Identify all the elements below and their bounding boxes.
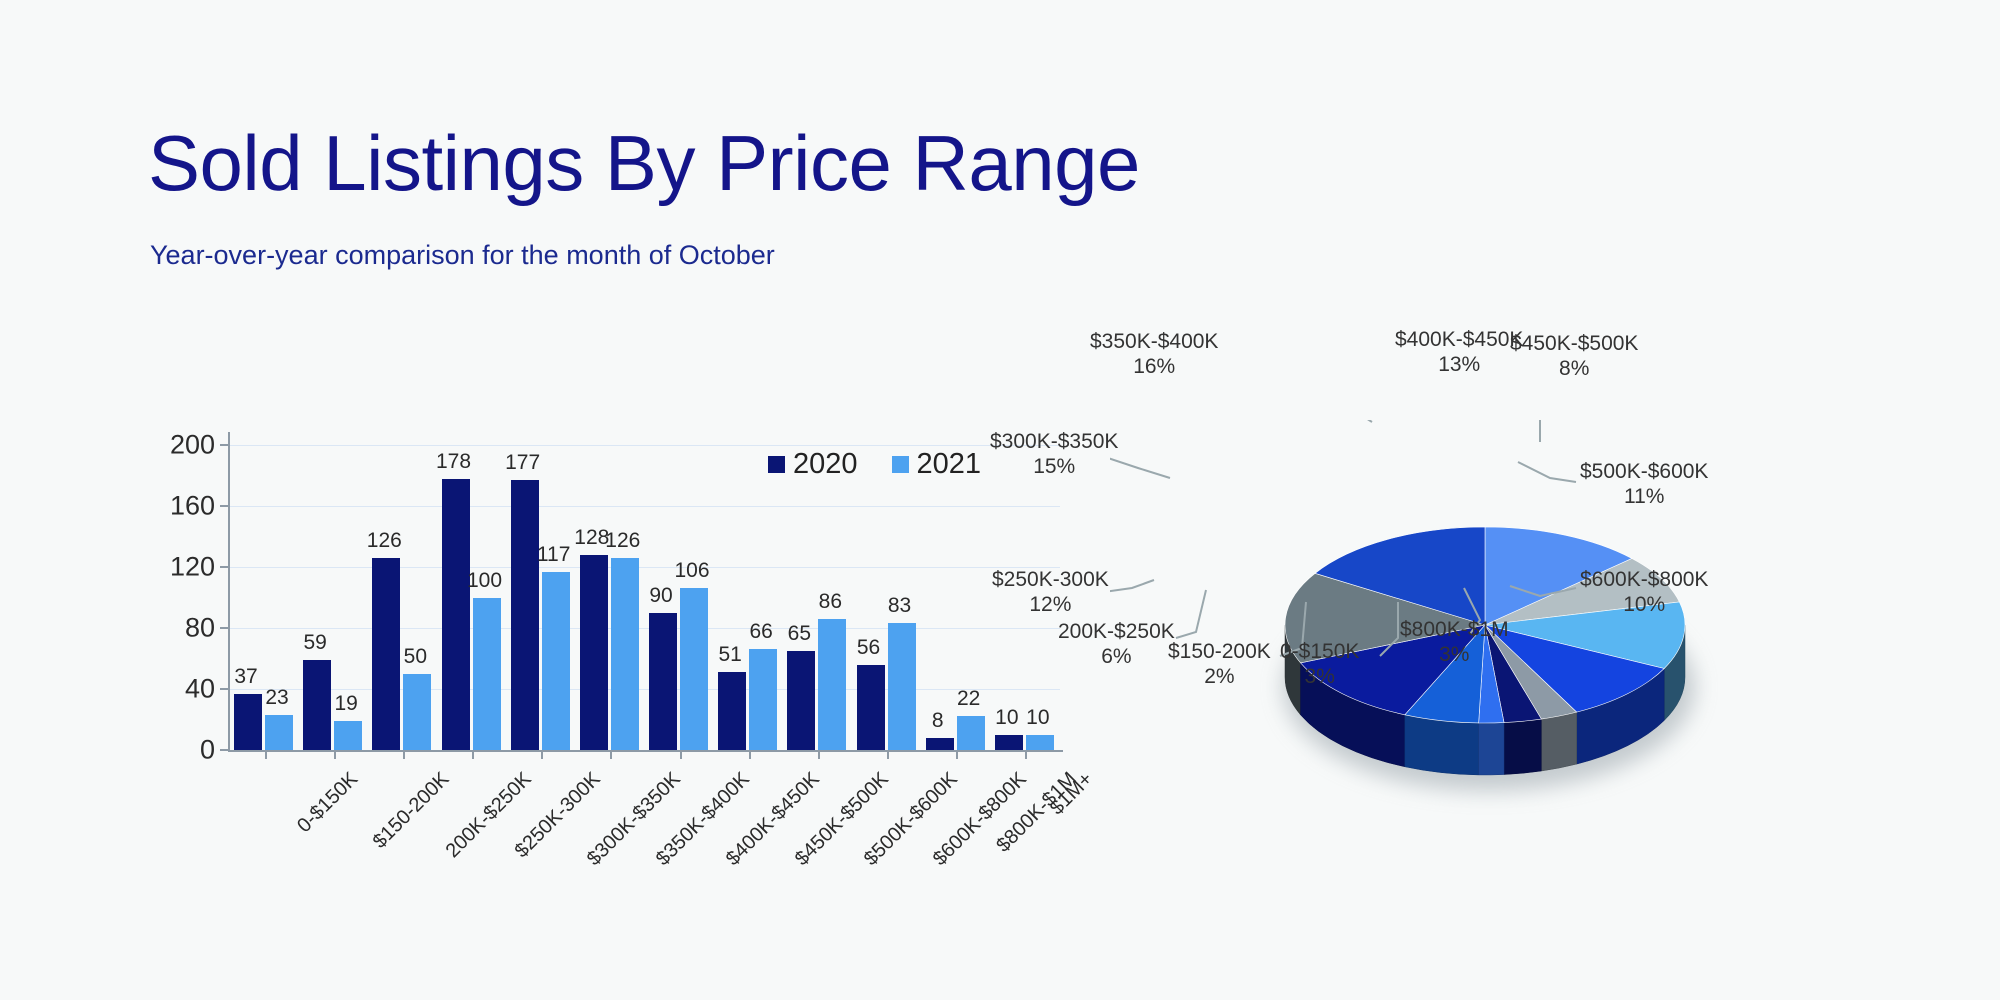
bar-group: 178100	[438, 445, 507, 750]
bar-chart-legend: 2020 2021	[768, 448, 981, 481]
bar-2020[interactable]	[995, 735, 1023, 750]
x-axis-tick-mark	[956, 750, 958, 759]
pie-callout-label: $500K-$600K	[1580, 460, 1708, 483]
pie-callout: $800K-$1M3%	[1400, 618, 1509, 668]
x-axis-line	[228, 750, 1063, 752]
pie-callout-label: $450K-$500K	[1510, 332, 1638, 355]
bar-group: 5919	[299, 445, 368, 750]
pie-callout: $150-200K2%	[1168, 640, 1271, 690]
pie-chart: $350K-$400K16%$400K-$450K13%$450K-$500K8…	[1110, 420, 1970, 860]
pie-leader-line	[1518, 462, 1576, 482]
bar-group: 12650	[368, 445, 437, 750]
bar-chart: 04080120160200 3723591912650178100177117…	[140, 420, 1100, 850]
bar-2021[interactable]	[334, 721, 362, 750]
pie-callout-percent: 2%	[1168, 665, 1271, 690]
x-axis-tick-mark	[1025, 750, 1027, 759]
legend-swatch-icon-2021	[892, 456, 909, 473]
bar-series-layer: 3723591912650178100177117128126901065166…	[230, 445, 1060, 750]
legend-label-2021: 2021	[917, 448, 982, 481]
bar-value-label: 83	[870, 594, 930, 618]
y-axis-tick-label: 40	[145, 674, 215, 705]
pie-callout: $300K-$350K15%	[990, 430, 1118, 480]
legend-swatch-icon-2020	[768, 456, 785, 473]
bar-2020[interactable]	[787, 651, 815, 750]
bar-value-label: 10	[1008, 706, 1068, 730]
bar-group: 177117	[507, 445, 576, 750]
pie-callout-label: $400K-$450K	[1395, 328, 1523, 351]
bar-2020[interactable]	[718, 672, 746, 750]
x-axis-tick-mark	[680, 750, 682, 759]
pie-leader-line	[1540, 420, 1565, 442]
bar-value-label: 59	[285, 631, 345, 655]
pie-callout-label: 0-$150K	[1280, 640, 1359, 663]
y-axis-tick-label: 200	[145, 430, 215, 461]
y-axis-tick-mark	[220, 627, 229, 629]
x-axis-tick-mark	[610, 750, 612, 759]
pie-callout-percent: 13%	[1395, 353, 1523, 378]
bar-value-label: 100	[455, 569, 515, 593]
pie-callout-percent: 3%	[1280, 665, 1359, 690]
pie-callout: $500K-$600K11%	[1580, 460, 1708, 510]
x-axis-tick-mark	[403, 750, 405, 759]
x-axis-tick-label: $1M+	[1046, 768, 1098, 820]
x-axis-tick-mark	[818, 750, 820, 759]
bar-2020[interactable]	[580, 555, 608, 750]
bar-value-label: 126	[354, 529, 414, 553]
x-axis-tick-mark	[749, 750, 751, 759]
pie-leader-line	[1110, 580, 1154, 592]
pie-callout-label: $150-200K	[1168, 640, 1271, 663]
bar-2020[interactable]	[511, 480, 539, 750]
bar-2021[interactable]	[1026, 735, 1054, 750]
pie-callout-percent: 10%	[1580, 593, 1708, 618]
pie-callout: $450K-$500K8%	[1510, 332, 1638, 382]
bar-group: 822	[922, 445, 991, 750]
pie-callout: $400K-$450K13%	[1395, 328, 1523, 378]
pie-callout: $350K-$400K16%	[1090, 330, 1218, 380]
slide-canvas: Sold Listings By Price Range Year-over-y…	[0, 0, 2000, 1000]
x-axis-tick-mark	[472, 750, 474, 759]
x-axis-tick-label: $150-200K	[368, 768, 453, 853]
bar-group: 5683	[853, 445, 922, 750]
bar-value-label: 177	[493, 451, 553, 475]
y-axis-tick-mark	[220, 505, 229, 507]
y-axis-tick-label: 160	[145, 491, 215, 522]
pie-callout-percent: 8%	[1510, 357, 1638, 382]
x-axis-tick-mark	[265, 750, 267, 759]
pie-callout-percent: 3%	[1400, 643, 1509, 668]
y-axis-tick-label: 0	[145, 735, 215, 766]
bar-value-label: 126	[593, 529, 653, 553]
pie-callout: 200K-$250K6%	[1058, 620, 1175, 670]
pie-leader-line	[1110, 456, 1170, 478]
bar-2020[interactable]	[926, 738, 954, 750]
page-subtitle: Year-over-year comparison for the month …	[150, 240, 775, 271]
y-axis-tick-mark	[220, 749, 229, 751]
y-axis-tick-mark	[220, 566, 229, 568]
bar-2021[interactable]	[749, 649, 777, 750]
x-axis-tick-label: 0-$150K	[293, 768, 363, 838]
pie-callout-percent: 6%	[1058, 645, 1175, 670]
pie-callout-label: $300K-$350K	[990, 430, 1118, 453]
pie-callout-label: $350K-$400K	[1090, 330, 1218, 353]
legend-item-2020[interactable]: 2020	[768, 448, 858, 481]
pie-leader-line	[1238, 420, 1372, 422]
bar-2021[interactable]	[265, 715, 293, 750]
pie-callout-percent: 16%	[1090, 355, 1218, 380]
pie-callout-label: $250K-300K	[992, 568, 1109, 591]
x-axis-tick-mark	[334, 750, 336, 759]
pie-callout: 0-$150K3%	[1280, 640, 1359, 690]
pie-callout-percent: 15%	[990, 455, 1118, 480]
bar-group: 90106	[645, 445, 714, 750]
bar-group: 3723	[230, 445, 299, 750]
y-axis-tick-mark	[220, 444, 229, 446]
bar-2020[interactable]	[857, 665, 885, 750]
pie-callout-percent: 12%	[992, 593, 1109, 618]
legend-item-2021[interactable]: 2021	[892, 448, 982, 481]
y-axis-tick-label: 120	[145, 552, 215, 583]
bar-2021[interactable]	[542, 572, 570, 750]
bar-value-label: 50	[385, 645, 445, 669]
pie-callout-label: 200K-$250K	[1058, 620, 1175, 643]
y-axis-tick-label: 80	[145, 613, 215, 644]
bar-group: 5166	[714, 445, 783, 750]
bar-2021[interactable]	[473, 598, 501, 751]
bar-2021[interactable]	[403, 674, 431, 750]
bar-2020[interactable]	[649, 613, 677, 750]
pie-callout: $600K-$800K10%	[1580, 568, 1708, 618]
bar-2020[interactable]	[442, 479, 470, 750]
bar-group: 6586	[783, 445, 852, 750]
pie-callout: $250K-300K12%	[992, 568, 1109, 618]
legend-label-2020: 2020	[793, 448, 858, 481]
bar-value-label: 178	[424, 450, 484, 474]
pie-callout-label: $600K-$800K	[1580, 568, 1708, 591]
x-axis-tick-mark	[887, 750, 889, 759]
bar-value-label: 106	[662, 559, 722, 583]
bar-value-label: 86	[800, 590, 860, 614]
bar-2021[interactable]	[680, 588, 708, 750]
pie-callout-label: $800K-$1M	[1400, 618, 1509, 641]
page-title: Sold Listings By Price Range	[148, 118, 1140, 209]
x-axis-tick-mark	[541, 750, 543, 759]
bar-value-label: 19	[316, 692, 376, 716]
pie-leader-line	[1176, 590, 1206, 638]
bar-value-label: 23	[247, 686, 307, 710]
pie-callout-percent: 11%	[1580, 485, 1708, 510]
